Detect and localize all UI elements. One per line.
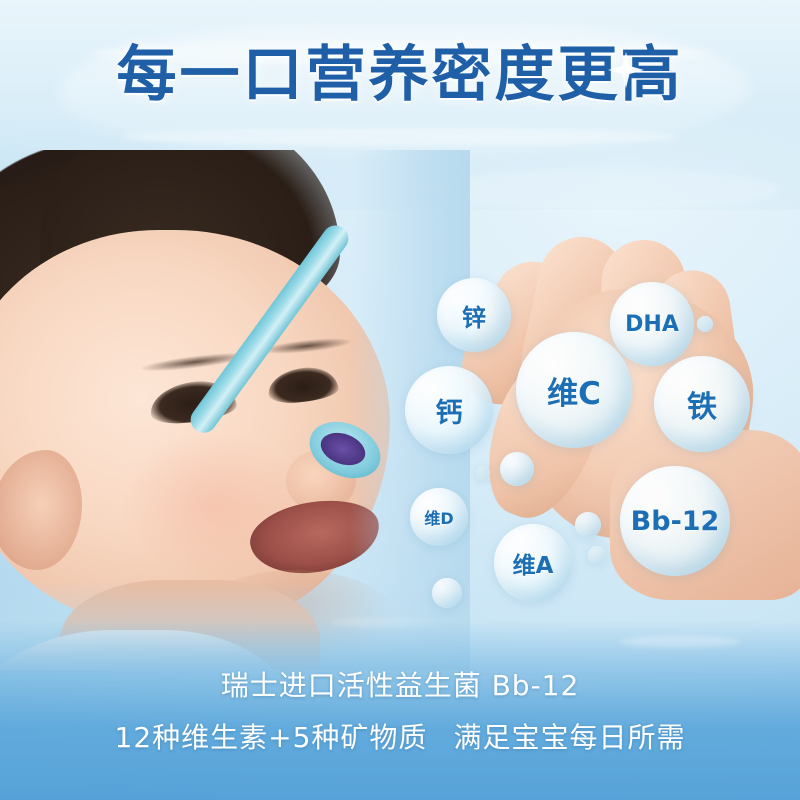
bubble-iron-label: 铁	[687, 382, 717, 426]
bubble-dha-label: DHA	[625, 312, 679, 337]
feeding-spoon	[330, 228, 370, 528]
bubble-bb12-label: Bb-12	[631, 506, 720, 537]
poster-title: 每一口营养密度更高	[117, 44, 684, 107]
bubble-zinc: 锌	[437, 278, 511, 352]
product-poster: 每一口营养密度更高 锌 DHA 维C 钙 铁 维D Bb-12 维A 瑞士进口	[0, 0, 800, 800]
sparkle-icon	[606, 50, 646, 90]
bubble-small-2	[575, 512, 601, 538]
bubble-vitamin-a: 维A	[494, 524, 572, 602]
bubble-small-3	[588, 546, 606, 564]
bubble-small-5	[697, 316, 713, 332]
bubble-vitamin-d: 维D	[410, 488, 468, 546]
bubble-vitamin-d-label: 维D	[424, 505, 453, 529]
bottom-copy: 瑞士进口活性益生菌 Bb-12 12种维生素+5种矿物质满足宝宝每日所需	[0, 664, 800, 756]
bottom-copy-line1: 瑞士进口活性益生菌 Bb-12	[0, 664, 800, 704]
bubble-small-6	[476, 466, 490, 480]
bubble-calcium-label: 钙	[436, 391, 463, 430]
title-area: 每一口营养密度更高	[0, 44, 800, 107]
bubble-small-1	[500, 452, 534, 486]
bottom-copy-line2-a: 12种维生素+5种矿物质	[115, 721, 428, 754]
bubble-vitamin-a-label: 维A	[513, 546, 554, 580]
bubble-bb12: Bb-12	[620, 466, 730, 576]
bottom-copy-line2-b: 满足宝宝每日所需	[453, 721, 685, 754]
brush-streak-2	[120, 128, 680, 146]
bubble-vitamin-c: 维C	[516, 332, 632, 448]
bubble-dha: DHA	[610, 282, 694, 366]
bubble-vitamin-c-label: 维C	[547, 368, 601, 413]
bubble-zinc-label: 锌	[462, 298, 486, 333]
bubble-iron: 铁	[654, 356, 750, 452]
baby-photo	[0, 150, 470, 670]
brush-streak-3	[430, 170, 780, 210]
bubble-small-4	[432, 578, 462, 608]
bottom-copy-line2: 12种维生素+5种矿物质满足宝宝每日所需	[0, 716, 800, 756]
bubble-calcium: 钙	[405, 366, 493, 454]
